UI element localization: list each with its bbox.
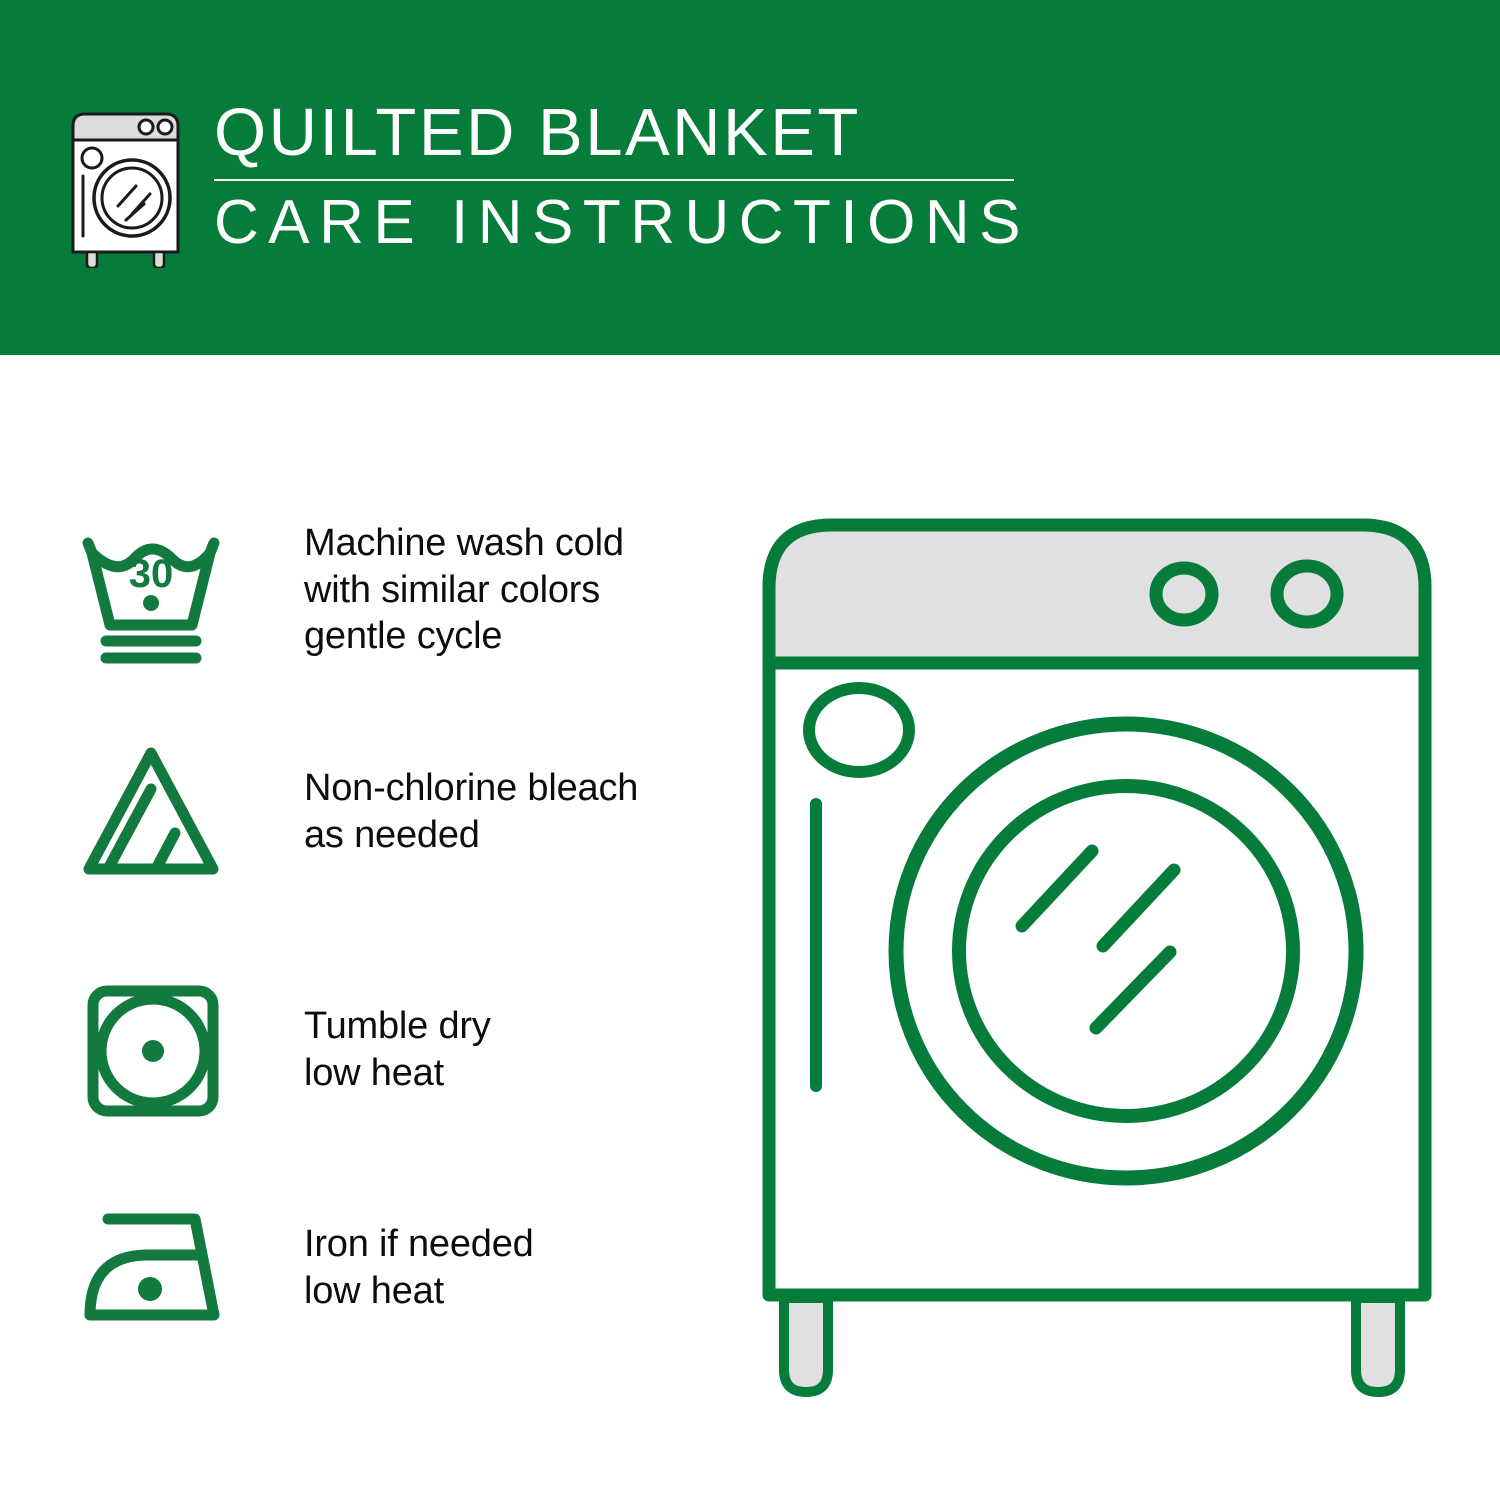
instruction-line: Machine wash cold: [304, 520, 624, 567]
instruction-item-tumble-dry: Tumble dry low heat: [72, 975, 712, 1125]
instruction-text-tumble-dry: Tumble dry low heat: [242, 1003, 491, 1096]
tumble-dry-low-icon: [72, 975, 242, 1125]
page-subtitle: CARE INSTRUCTIONS: [214, 190, 1214, 257]
care-instructions-page: QUILTED BLANKET CARE INSTRUCTIONS 30: [0, 0, 1500, 1500]
machine-door-inner: [959, 786, 1293, 1116]
instruction-item-bleach: Non-chlorine bleach as needed: [72, 737, 712, 887]
machine-knob-right: [1277, 566, 1337, 622]
instruction-line: Non-chlorine bleach: [304, 765, 638, 812]
instruction-item-wash: 30 Machine wash cold with similar colors…: [72, 515, 712, 665]
wash-temperature-value: 30: [129, 552, 174, 596]
washing-machine-logo-icon: [66, 108, 190, 268]
wash-tub-30-icon: 30: [72, 515, 242, 665]
bleach-triangle-icon: [72, 737, 242, 887]
instruction-line: gentle cycle: [304, 613, 624, 660]
instruction-line: Tumble dry: [304, 1003, 491, 1050]
instruction-line: low heat: [304, 1268, 534, 1315]
instruction-line: low heat: [304, 1050, 491, 1097]
header-banner: QUILTED BLANKET CARE INSTRUCTIONS: [0, 0, 1500, 355]
machine-foot-left: [784, 1298, 828, 1392]
machine-indicator-circle: [809, 688, 909, 772]
title-divider: [214, 179, 1014, 181]
instruction-line: Iron if needed: [304, 1221, 534, 1268]
header-title-block: QUILTED BLANKET CARE INSTRUCTIONS: [214, 98, 1214, 257]
instruction-line: with similar colors: [304, 567, 624, 614]
instruction-text-wash: Machine wash cold with similar colors ge…: [242, 520, 624, 660]
washing-machine-illustration: [752, 508, 1442, 1408]
machine-knob-left: [1156, 568, 1212, 620]
instruction-text-bleach: Non-chlorine bleach as needed: [242, 765, 638, 858]
instruction-text-iron: Iron if needed low heat: [242, 1221, 534, 1314]
machine-foot-right: [1356, 1298, 1400, 1392]
instruction-item-iron: Iron if needed low heat: [72, 1193, 712, 1343]
page-title: QUILTED BLANKET: [214, 98, 1214, 168]
iron-low-heat-icon: [72, 1193, 242, 1343]
instruction-line: as needed: [304, 812, 638, 859]
